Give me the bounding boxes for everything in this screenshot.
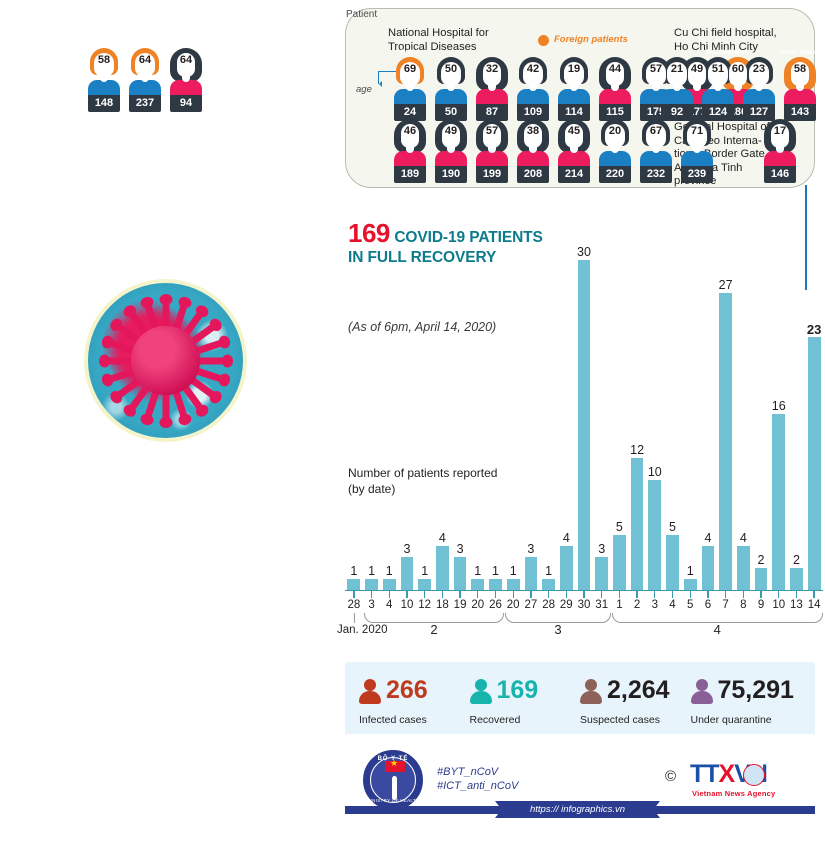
patient-id: 94 — [170, 95, 202, 112]
patient-head: South African58 — [784, 57, 816, 91]
patient-body — [599, 151, 631, 166]
x-tick — [805, 591, 823, 598]
patient-figure: South African58143 — [784, 57, 816, 121]
ttxvn-globe-icon — [743, 764, 765, 786]
bar — [737, 546, 750, 590]
patient-body — [661, 89, 693, 104]
patient-nationality: British — [819, 49, 825, 56]
bar-value-label: 3 — [527, 543, 534, 556]
patient-figure: 20220 — [599, 119, 631, 183]
patient-body — [558, 151, 590, 166]
person-icon — [691, 678, 713, 704]
patient-body — [702, 89, 734, 104]
patient-body — [681, 151, 713, 166]
bar-group: 3 — [451, 205, 469, 590]
x-tick-label: 29 — [557, 599, 575, 611]
patient-age: 38 — [517, 126, 549, 137]
bar-group: 23 — [805, 205, 823, 590]
patient-body — [394, 151, 426, 166]
bar-value-label: 3 — [457, 543, 464, 556]
patient-age: 64 — [129, 55, 161, 66]
x-tick-label: 28 — [345, 599, 363, 611]
bar-chart-x-axis: 2834101218192026202728293031123456789101… — [345, 590, 823, 637]
bar-group: 30 — [575, 205, 593, 590]
bar-group: 3 — [398, 205, 416, 590]
patient-figure: 57199 — [476, 119, 508, 183]
bar-group: 2 — [788, 205, 806, 590]
x-tick-label: 18 — [434, 599, 452, 611]
bar-value-label: 4 — [740, 532, 747, 545]
person-icon — [580, 678, 602, 704]
bar — [595, 557, 608, 590]
bar-group: 1 — [416, 205, 434, 590]
bar — [471, 579, 484, 590]
bar-value-label: 10 — [648, 466, 662, 479]
patient-body — [88, 80, 120, 95]
bar-value-label: 27 — [719, 279, 733, 292]
patient-age: 67 — [640, 126, 672, 137]
bar-value-label: 3 — [403, 543, 410, 556]
patient-nationality: French — [82, 40, 126, 47]
patient-id: 239 — [681, 166, 713, 183]
left-patient-group: French58148Swedish642376494 — [88, 48, 202, 112]
patient-head: Brazilian51 — [702, 57, 734, 91]
bar — [613, 535, 626, 590]
bar-group: 5 — [664, 205, 682, 590]
patient-head: 71 — [681, 119, 713, 153]
bar-group: 1 — [504, 205, 522, 590]
bar-group: 1 — [469, 205, 487, 590]
x-tick — [380, 591, 398, 598]
patient-head: 57 — [476, 119, 508, 153]
patient-age: 64 — [170, 55, 202, 66]
x-tick-label: 10 — [770, 599, 788, 611]
age-annotation: age — [356, 84, 372, 95]
bar-chart-bars: 111314311131430351210514274216223 — [345, 205, 823, 590]
bar — [525, 557, 538, 590]
bar — [578, 260, 591, 590]
patient-age: 69 — [394, 64, 426, 75]
patient-head: 50 — [435, 57, 467, 91]
x-tick-label: 14 — [805, 599, 823, 611]
stat-item: 75,291Under quarantine — [691, 671, 802, 726]
x-tick — [628, 591, 646, 598]
x-tick-label: 3 — [646, 599, 664, 611]
x-tick-label: 6 — [699, 599, 717, 611]
bar — [347, 579, 360, 590]
bar — [790, 568, 803, 590]
x-tick-label: 30 — [575, 599, 593, 611]
patient-head: 45 — [558, 119, 590, 153]
bar-value-label: 1 — [687, 565, 694, 578]
month-label: 4 — [613, 622, 822, 637]
patient-head: 64 — [170, 48, 202, 82]
patient-head: French58 — [88, 48, 120, 82]
hospital-info-box: National Hospital forTropical Diseases F… — [345, 8, 815, 188]
x-tick-label: 8 — [734, 599, 752, 611]
vietnam-flag-icon — [385, 761, 405, 772]
bar-group: 12 — [628, 205, 646, 590]
stat-row: 169 — [470, 671, 581, 711]
x-tick-label: 4 — [380, 599, 398, 611]
patient-figure: 49190 — [435, 119, 467, 183]
patient-figure: 42109 — [517, 57, 549, 121]
ministry-of-health-logo: BỘ Y TẾ MINISTRY OF HEALTH — [363, 750, 423, 810]
site-url-ribbon[interactable]: https:// infographics.vn — [495, 801, 660, 818]
patient-head: 38 — [517, 119, 549, 153]
x-tick — [363, 591, 381, 598]
month-label: 3 — [506, 622, 609, 637]
patient-nationality: South African — [778, 49, 822, 56]
bar — [755, 568, 768, 590]
patient-figure: 2192 — [661, 57, 693, 121]
coronavirus-illustration — [88, 283, 243, 438]
hashtag-byt: #BYT_nCoV — [437, 766, 498, 778]
patient-head: 32 — [476, 57, 508, 91]
bar-value-label: 1 — [492, 565, 499, 578]
person-icon — [359, 678, 381, 704]
patient-body — [558, 89, 590, 104]
stat-caption: Recovered — [470, 714, 581, 726]
x-tick-label: 28 — [540, 599, 558, 611]
x-tick-label: 12 — [416, 599, 434, 611]
bar-value-label: 4 — [439, 532, 446, 545]
patient-figure: British6924 — [394, 57, 426, 121]
x-tick — [593, 591, 611, 598]
patient-age: 58 — [784, 64, 816, 75]
x-tick-label: 2 — [628, 599, 646, 611]
x-tick — [451, 591, 469, 598]
patient-id: 232 — [640, 166, 672, 183]
patient-age: 32 — [476, 64, 508, 75]
bar — [702, 546, 715, 590]
patient-id: 208 — [517, 166, 549, 183]
bar — [719, 293, 732, 590]
hashtag-ict: #ICT_anti_nCoV — [437, 780, 518, 792]
x-tick-label: 4 — [664, 599, 682, 611]
x-tick-label: 26 — [487, 599, 505, 611]
patient-nationality: British — [388, 49, 432, 56]
bar-value-label: 1 — [510, 565, 517, 578]
patient-head: 67 — [640, 119, 672, 153]
patient-figure: 6494 — [170, 48, 202, 112]
x-tick — [734, 591, 752, 598]
patient-age: 20 — [599, 126, 631, 137]
patient-id: 92 — [661, 104, 693, 121]
bar-group: 3 — [593, 205, 611, 590]
stat-row: 2,264 — [580, 671, 691, 711]
x-tick — [504, 591, 522, 598]
x-axis-month-groups: Jan. 2020 234 — [345, 613, 823, 637]
patient-figure: 23127 — [743, 57, 775, 121]
patient-figure: French58148 — [88, 48, 120, 112]
foreign-patients-legend-dot — [538, 35, 549, 46]
patient-id: 214 — [558, 166, 590, 183]
bar — [542, 579, 555, 590]
jan-tick — [354, 613, 355, 623]
ttxvn-subtitle: Vietnam News Agency — [692, 789, 775, 798]
x-tick — [752, 591, 770, 598]
patient-age: 21 — [661, 64, 693, 75]
bar — [560, 546, 573, 590]
bar-group: 27 — [717, 205, 735, 590]
bar-value-label: 5 — [669, 521, 676, 534]
bar — [489, 579, 502, 590]
x-tick — [557, 591, 575, 598]
patient-body — [784, 89, 816, 104]
bar-group: 1 — [487, 205, 505, 590]
bar-value-label: 5 — [616, 521, 623, 534]
bar-group: 2 — [752, 205, 770, 590]
x-tick — [788, 591, 806, 598]
bar-value-label: 3 — [598, 543, 605, 556]
patient-body — [129, 80, 161, 95]
bar-value-label: 30 — [577, 246, 591, 259]
x-tick — [434, 591, 452, 598]
patient-body — [394, 89, 426, 104]
patient-age: 49 — [435, 126, 467, 137]
bar — [507, 579, 520, 590]
patient-head: British69 — [394, 57, 426, 91]
hatinh-patient-row: 17146 — [764, 119, 796, 183]
bar-group: 4 — [434, 205, 452, 590]
patient-body — [517, 89, 549, 104]
bar — [418, 579, 431, 590]
nhtd-patient-row-2: 4618949190571993820845214202206723271239 — [394, 119, 713, 183]
patient-id: 190 — [435, 166, 467, 183]
bar-value-label: 1 — [386, 565, 393, 578]
patient-age: 19 — [558, 64, 590, 75]
x-tick — [699, 591, 717, 598]
patient-id: 189 — [394, 166, 426, 183]
logo-bottom-text: MINISTRY OF HEALTH — [365, 798, 421, 803]
bar-group: 4 — [699, 205, 717, 590]
stat-item: 169Recovered — [470, 671, 581, 726]
right-column: National Hospital forTropical Diseases F… — [340, 0, 825, 856]
patient-id: 199 — [476, 166, 508, 183]
stat-value: 75,291 — [718, 678, 794, 703]
ttxvn-x: X — [719, 760, 735, 788]
patient-age: 45 — [558, 126, 590, 137]
patient-figure: 38208 — [517, 119, 549, 183]
bar — [401, 557, 414, 590]
patient-body — [764, 151, 796, 166]
stat-row: 75,291 — [691, 671, 802, 711]
bar-value-label: 16 — [772, 400, 786, 413]
bar-group: 10 — [646, 205, 664, 590]
bar-group: 4 — [734, 205, 752, 590]
patient-age: 71 — [681, 126, 713, 137]
patient-age: 57 — [476, 126, 508, 137]
footer: BỘ Y TẾ MINISTRY OF HEALTH #BYT_nCoV #IC… — [345, 748, 815, 828]
asclepius-rod-icon — [392, 776, 397, 800]
bar-value-label: 23 — [807, 323, 821, 336]
x-tick-label: 3 — [363, 599, 381, 611]
patient-head: 23 — [743, 57, 775, 91]
foreign-patients-legend-label: Foreign patients — [554, 34, 628, 45]
patient-figure: 44115 — [599, 57, 631, 121]
patient-id: 124 — [702, 104, 734, 121]
bar-value-label: 1 — [421, 565, 428, 578]
patient-figure: 3287 — [476, 57, 508, 121]
patient-nationality: Swedish — [123, 40, 167, 47]
x-tick — [717, 591, 735, 598]
bar-group: 16 — [770, 205, 788, 590]
bar-value-label: 2 — [758, 554, 765, 567]
patient-body — [599, 89, 631, 104]
bar-group: 1 — [681, 205, 699, 590]
x-tick-label: 1 — [611, 599, 629, 611]
x-tick — [416, 591, 434, 598]
patient-age: 17 — [764, 126, 796, 137]
patient-id: 148 — [88, 95, 120, 112]
bar-value-label: 12 — [630, 444, 644, 457]
x-tick-label: 27 — [522, 599, 540, 611]
bar-value-label: 1 — [368, 565, 375, 578]
patient-figure: 17146 — [764, 119, 796, 183]
bar — [772, 414, 785, 590]
bar-value-label: 2 — [793, 554, 800, 567]
patient-figure: 5050 — [435, 57, 467, 121]
patient-head: 19 — [558, 57, 590, 91]
x-tick-label: 20 — [504, 599, 522, 611]
bar — [666, 535, 679, 590]
patient-head: 21 — [661, 57, 693, 91]
bar-group: 1 — [540, 205, 558, 590]
x-tick — [575, 591, 593, 598]
patient-age: 23 — [743, 64, 775, 75]
patient-body — [435, 151, 467, 166]
x-tick — [540, 591, 558, 598]
patient-annotation: Patient — [346, 9, 814, 20]
patient-body — [476, 151, 508, 166]
patient-head: 46 — [394, 119, 426, 153]
x-tick-label: 7 — [717, 599, 735, 611]
x-tick-label: 20 — [469, 599, 487, 611]
x-tick — [770, 591, 788, 598]
stat-row: 266 — [359, 671, 470, 711]
patient-figure: Swedish64237 — [129, 48, 161, 112]
x-tick — [469, 591, 487, 598]
patient-body — [640, 151, 672, 166]
summary-stats-strip: 266Infected cases169Recovered2,264Suspec… — [345, 662, 815, 734]
patient-figure: 67232 — [640, 119, 672, 183]
stat-caption: Infected cases — [359, 714, 470, 726]
patient-figure: 45214 — [558, 119, 590, 183]
virus-core — [131, 326, 199, 394]
bar-value-label: 1 — [545, 565, 552, 578]
x-tick — [345, 591, 363, 598]
bar-group: 1 — [363, 205, 381, 590]
patient-head: Swedish64 — [129, 48, 161, 82]
patient-body — [476, 89, 508, 104]
bar-chart: 111314311131430351210514274216223 — [345, 205, 823, 590]
patient-body — [517, 151, 549, 166]
bar-group: 3 — [522, 205, 540, 590]
left-column: French58148Swedish642376494 — [0, 0, 340, 856]
patient-nationality: Brazilian — [696, 49, 740, 56]
bar — [631, 458, 644, 590]
stat-item: 266Infected cases — [359, 671, 470, 726]
bar — [648, 480, 661, 590]
bar-group: 4 — [557, 205, 575, 590]
month-bracket: 2 — [364, 613, 505, 623]
patient-head: 42 — [517, 57, 549, 91]
patient-age: 51 — [702, 64, 734, 75]
x-tick-label: 19 — [451, 599, 469, 611]
x-axis-ticks — [345, 590, 823, 598]
bar — [684, 579, 697, 590]
patient-age: 44 — [599, 64, 631, 75]
patient-figure: 19114 — [558, 57, 590, 121]
stat-value: 169 — [497, 678, 539, 703]
x-tick — [646, 591, 664, 598]
bar-value-label: 4 — [704, 532, 711, 545]
ttxvn-tt: TT — [690, 760, 719, 788]
bar-value-label: 4 — [563, 532, 570, 545]
x-tick — [681, 591, 699, 598]
bar — [436, 546, 449, 590]
patient-id: 220 — [599, 166, 631, 183]
patient-age: 46 — [394, 126, 426, 137]
x-tick — [522, 591, 540, 598]
cuchi-patient-row: 2192Brazilian5112423127South African5814… — [661, 57, 825, 121]
patient-head: 49 — [435, 119, 467, 153]
stat-value: 2,264 — [607, 678, 670, 703]
month-bracket: 4 — [612, 613, 823, 623]
patient-body — [170, 80, 202, 95]
x-tick — [398, 591, 416, 598]
stat-caption: Under quarantine — [691, 714, 802, 726]
x-tick-label: 9 — [752, 599, 770, 611]
patient-figure: 46189 — [394, 119, 426, 183]
bar — [365, 579, 378, 590]
patient-age: 50 — [435, 64, 467, 75]
patient-id: 237 — [129, 95, 161, 112]
x-tick-label: 31 — [593, 599, 611, 611]
x-tick — [487, 591, 505, 598]
x-tick-label: 5 — [681, 599, 699, 611]
x-tick-label: 10 — [398, 599, 416, 611]
x-tick — [611, 591, 629, 598]
bar-value-label: 1 — [474, 565, 481, 578]
month-label: 2 — [365, 622, 504, 637]
patient-body — [743, 89, 775, 104]
patient-figure: Brazilian51124 — [702, 57, 734, 121]
bar-group: 1 — [345, 205, 363, 590]
x-tick — [664, 591, 682, 598]
patient-age: 42 — [517, 64, 549, 75]
patient-age: 58 — [88, 55, 120, 66]
patient-id: 146 — [764, 166, 796, 183]
person-icon — [470, 678, 492, 704]
x-axis-labels: 2834101218192026202728293031123456789101… — [345, 599, 823, 611]
month-bracket: 3 — [505, 613, 610, 623]
patient-figure: 71239 — [681, 119, 713, 183]
patient-head: 44 — [599, 57, 631, 91]
bar-group: 5 — [611, 205, 629, 590]
bar-group: 1 — [380, 205, 398, 590]
stat-caption: Suspected cases — [580, 714, 691, 726]
bar-value-label: 1 — [350, 565, 357, 578]
x-tick-label: 13 — [788, 599, 806, 611]
patient-head: 20 — [599, 119, 631, 153]
stat-value: 266 — [386, 678, 428, 703]
stat-item: 2,264Suspected cases — [580, 671, 691, 726]
bar — [383, 579, 396, 590]
patient-head: 17 — [764, 119, 796, 153]
patient-body — [435, 89, 467, 104]
